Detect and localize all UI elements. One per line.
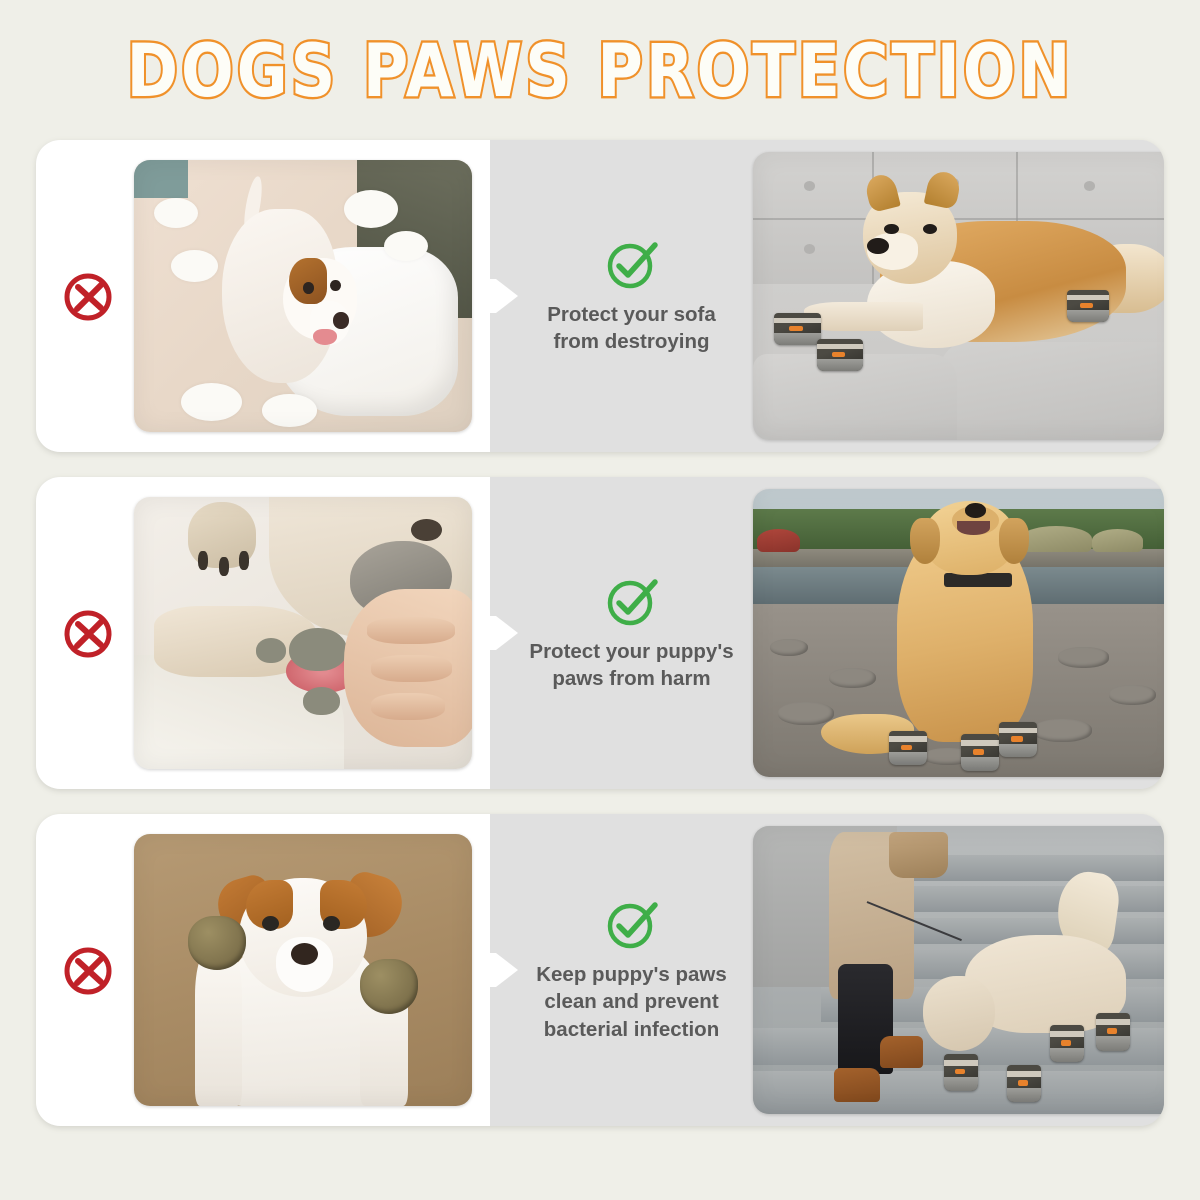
after-photo-dog-on-sofa (753, 152, 1164, 440)
check-circle-icon (605, 897, 659, 951)
check-circle-icon (605, 574, 659, 628)
chevron-right-arrow-icon (488, 947, 530, 993)
check-circle-icon (605, 237, 659, 291)
after-photo-walking-on-steps (753, 826, 1164, 1114)
cards-container: Protect your sofa from destroying (0, 140, 1200, 1126)
card-caption: Protect your sofa from destroying (547, 301, 716, 356)
header: DOGS PAWS PROTECTION (0, 0, 1200, 140)
card-protect-paws[interactable]: Protect your puppy's paws from harm (36, 477, 1164, 789)
after-panel: Protect your sofa from destroying (490, 140, 1164, 452)
before-panel (36, 814, 490, 1126)
chevron-right-arrow-icon (488, 273, 530, 319)
after-photo-dog-riverbank (753, 489, 1164, 777)
before-photo-shredded-bedding (134, 160, 472, 432)
before-photo-muddy-paws (134, 834, 472, 1106)
card-caption: Keep puppy's paws clean and prevent bact… (536, 961, 727, 1043)
before-photo-injured-paw (134, 497, 472, 769)
before-panel (36, 477, 490, 789)
after-panel: Keep puppy's paws clean and prevent bact… (490, 814, 1164, 1126)
x-circle-icon (61, 605, 117, 661)
x-circle-icon (61, 268, 117, 324)
page-title: DOGS PAWS PROTECTION (127, 27, 1074, 113)
card-protect-sofa[interactable]: Protect your sofa from destroying (36, 140, 1164, 452)
before-panel (36, 140, 490, 452)
x-circle-icon (61, 942, 117, 998)
chevron-right-arrow-icon (488, 610, 530, 656)
after-panel: Protect your puppy's paws from harm (490, 477, 1164, 789)
card-clean-paws[interactable]: Keep puppy's paws clean and prevent bact… (36, 814, 1164, 1126)
card-caption: Protect your puppy's paws from harm (529, 638, 733, 693)
